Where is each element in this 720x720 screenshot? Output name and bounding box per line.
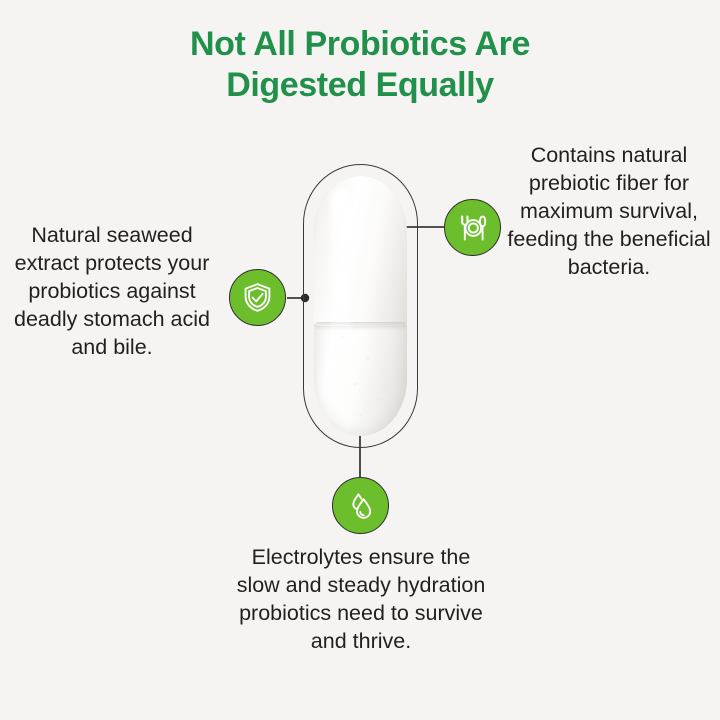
callout-badge-electrolytes[interactable] — [332, 477, 389, 534]
page-title-line-2: Digested Equally — [0, 65, 720, 106]
capsule-image — [314, 176, 407, 436]
capsule-highlight — [331, 188, 351, 420]
capsule-cap — [314, 176, 407, 326]
page-title-line-1: Not All Probiotics Are — [0, 24, 720, 65]
callout-text-prebiotic-fiber: Contains natural prebiotic fiber for max… — [500, 142, 718, 282]
probiotic-infographic: Not All Probiotics Are Digested Equally — [0, 0, 720, 720]
capsule-seam — [316, 322, 405, 327]
water-droplets-icon — [345, 490, 377, 522]
cutlery-plate-icon — [456, 211, 490, 245]
callout-text-electrolytes: Electrolytes ensure the slow and steady … — [228, 544, 494, 656]
callout-badge-seaweed[interactable] — [229, 269, 286, 326]
callout-badge-prebiotic-fiber[interactable] — [444, 199, 501, 256]
shield-check-icon — [241, 281, 274, 314]
page-title: Not All Probiotics Are Digested Equally — [0, 24, 720, 107]
callout-text-seaweed: Natural seaweed extract protects your pr… — [4, 222, 220, 362]
